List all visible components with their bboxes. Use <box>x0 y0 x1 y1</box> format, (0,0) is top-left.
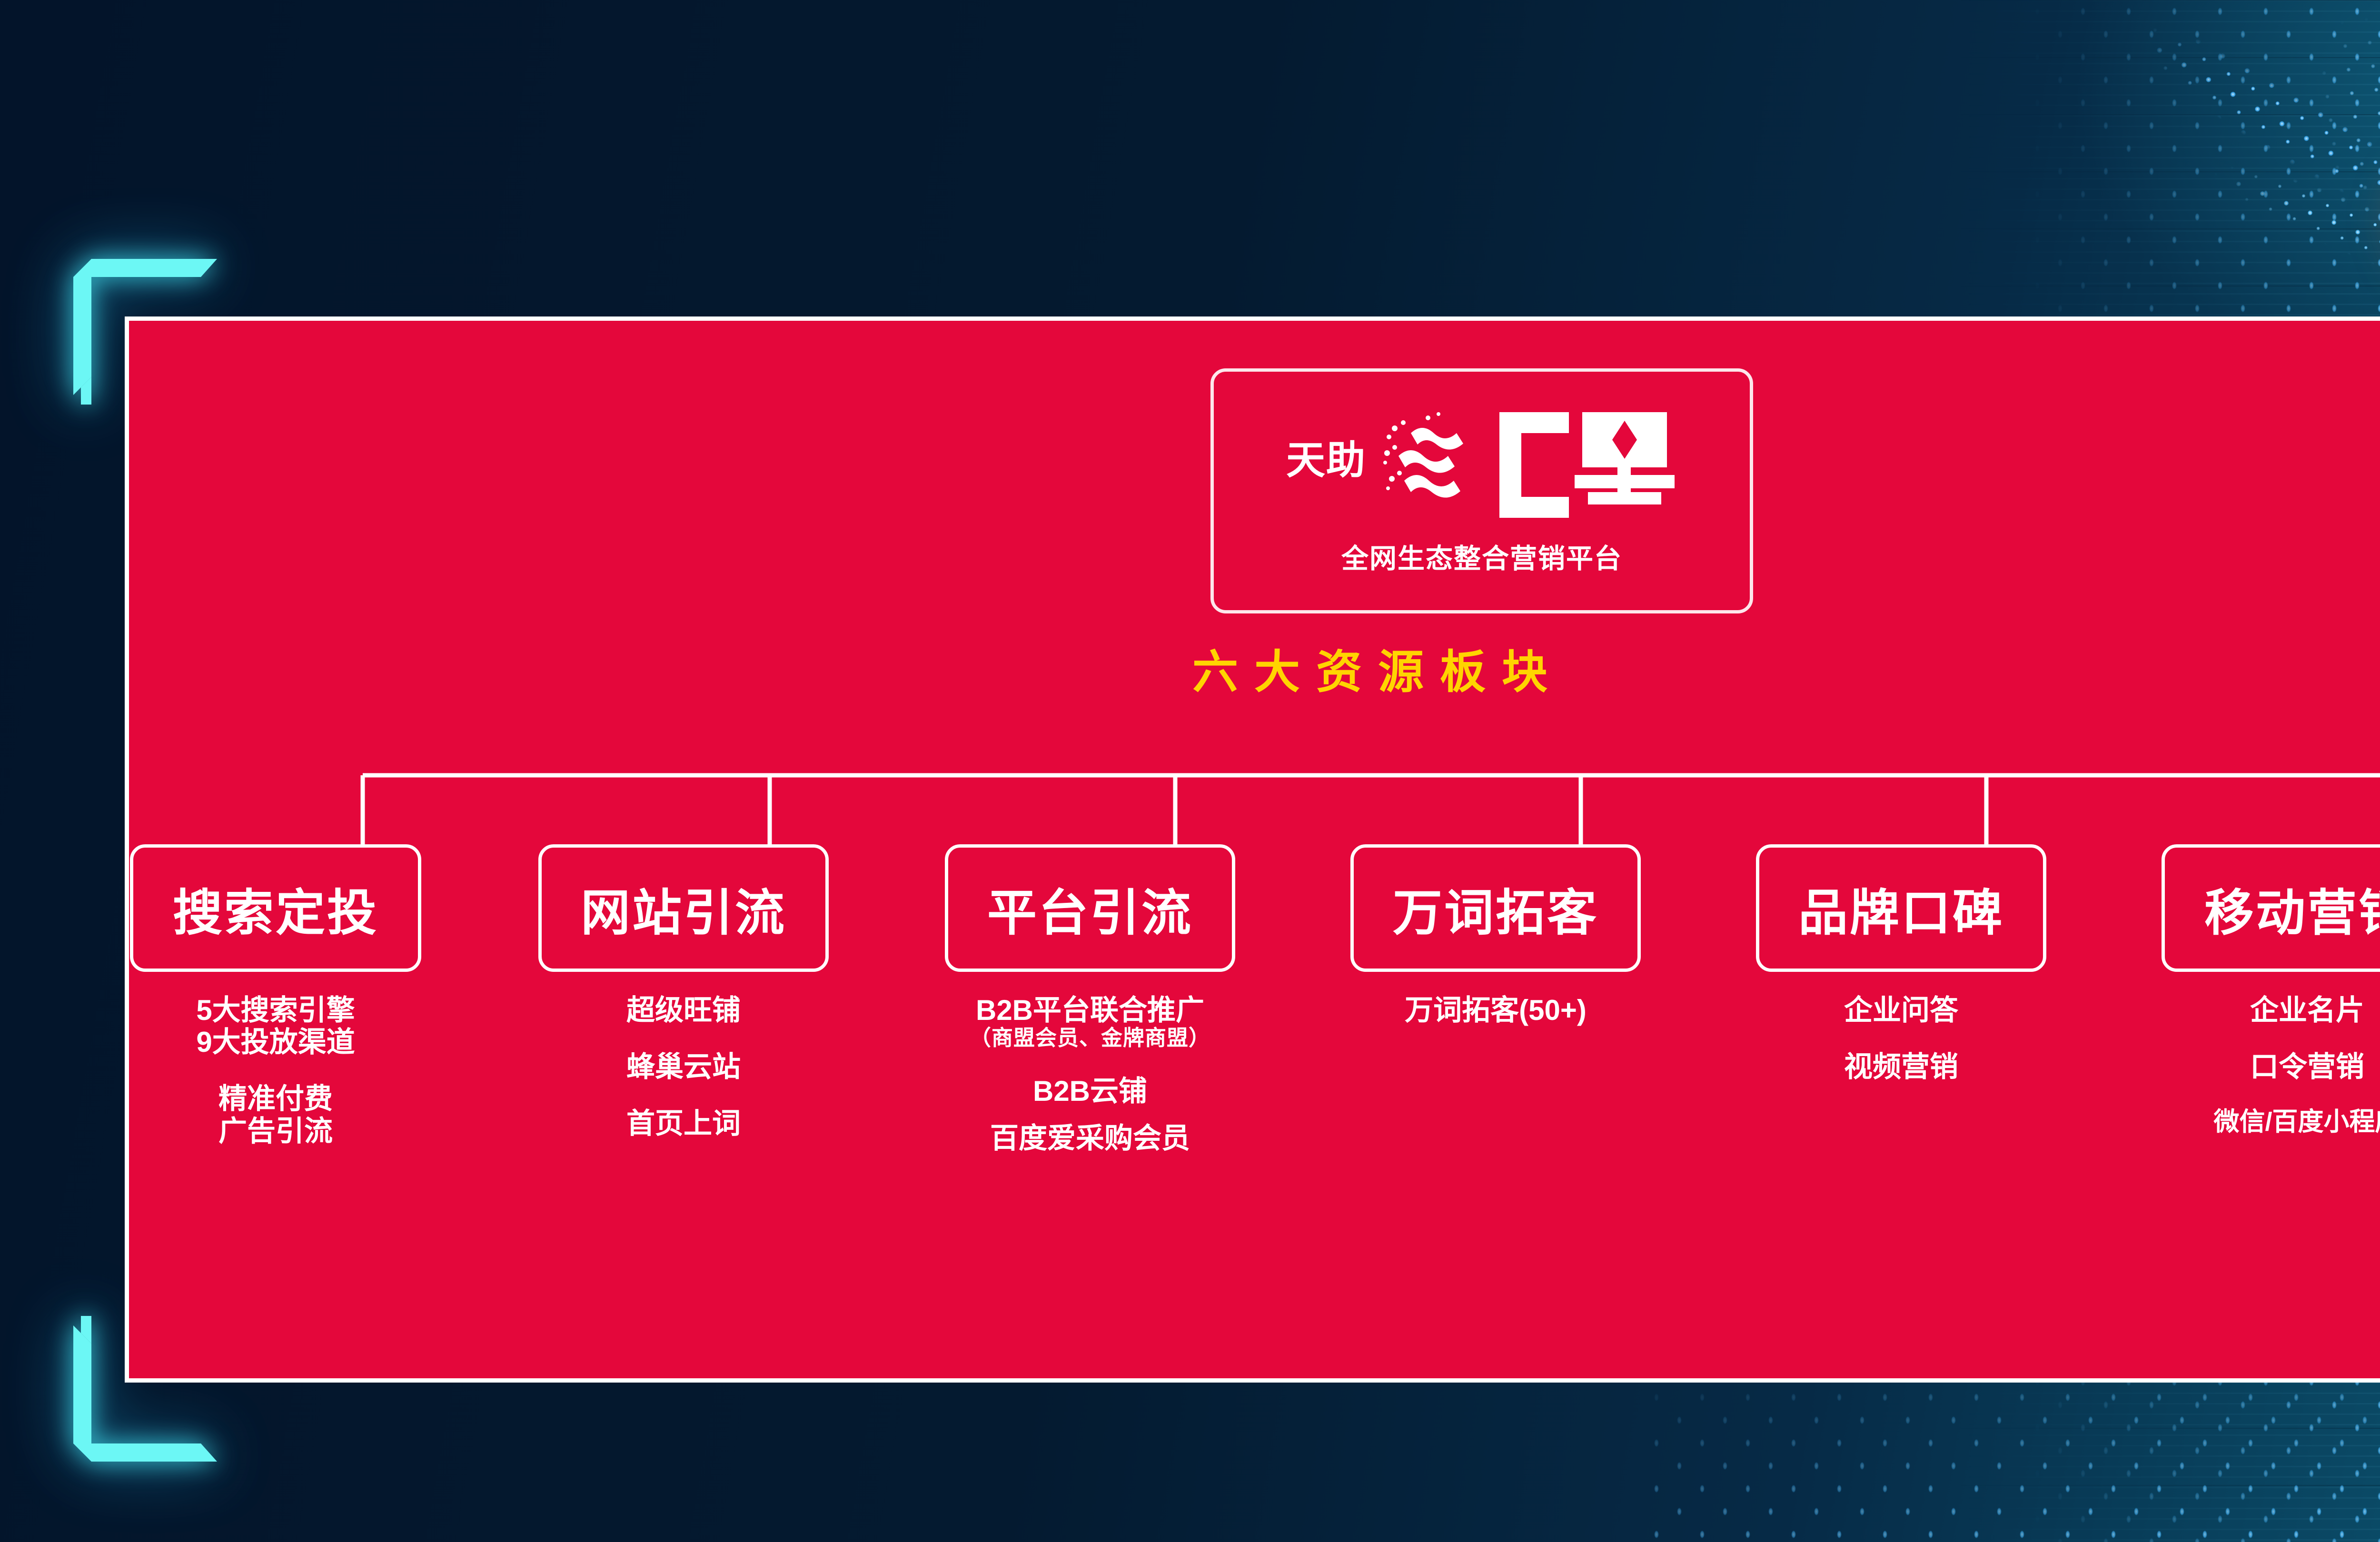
node-box-3[interactable]: 平台引流 <box>945 844 1235 972</box>
detail-line: 蜂巢云站 <box>538 1051 829 1083</box>
detail-line: 视频营销 <box>1756 1051 2046 1083</box>
detail-line: 万词拓客(50+) <box>1341 994 1650 1026</box>
detail-line: 企业问答 <box>1756 994 2046 1026</box>
node-label: 品牌口碑 <box>1798 872 2004 944</box>
node-label: 移动营销 <box>2204 872 2380 944</box>
node-label: 网站引流 <box>581 872 786 944</box>
detail-line: 超级旺铺 <box>538 994 829 1026</box>
poster-canvas: 天助网® www.tz1288.com 天助 <box>0 0 2380 1542</box>
detail-line: B2B云铺 <box>926 1075 1254 1107</box>
logo-row: 天助 <box>1286 404 1677 518</box>
logo-tagline: 全网生态整合营销平台 <box>1341 537 1622 576</box>
detail-line: 首页上词 <box>538 1107 829 1139</box>
detail-line: 口令营销 <box>2152 1051 2380 1083</box>
detail-line: 精准付费 <box>130 1083 421 1115</box>
logo-prefix: 天助 <box>1286 441 1366 480</box>
detail-columns: 5大搜索引擎 9大投放渠道 精准付费 广告引流 超级旺铺 蜂巢云站 首页上词 B… <box>129 994 2380 1375</box>
detail-line: 企业名片 <box>2152 994 2380 1026</box>
detail-line: （商盟会员、金牌商盟） <box>926 1026 1254 1050</box>
node-box-6[interactable]: 移动营销 <box>2162 844 2380 972</box>
detail-column-3: B2B平台联合推广 （商盟会员、金牌商盟） B2B云铺 百度爱采购会员 <box>926 994 1254 1154</box>
detail-line: B2B平台联合推广 <box>926 994 1254 1026</box>
brand-logo-plaque: 天助 <box>1210 368 1753 613</box>
node-label: 平台引流 <box>987 872 1193 944</box>
node-box-1[interactable]: 搜索定投 <box>130 844 421 972</box>
detail-line: 9大投放渠道 <box>130 1026 421 1058</box>
detail-column-2: 超级旺铺 蜂巢云站 首页上词 <box>538 994 829 1140</box>
node-box-5[interactable]: 品牌口碑 <box>1756 844 2046 972</box>
detail-line: 5大搜索引擎 <box>130 994 421 1026</box>
node-row: 搜索定投 网站引流 平台引流 万词拓客 品牌口碑 移动营销 <box>129 844 2380 978</box>
detail-line: 广告引流 <box>130 1115 421 1147</box>
particle-swirl-icon <box>2133 0 2380 290</box>
detail-column-1: 5大搜索引擎 9大投放渠道 精准付费 广告引流 <box>130 994 421 1147</box>
section-heading: 六大资源板块 <box>129 635 2380 701</box>
detail-line: 微信/百度小程序 <box>2152 1107 2380 1136</box>
red-content-panel: 天助 <box>125 316 2380 1383</box>
detail-line: 百度爱采购会员 <box>926 1122 1254 1154</box>
node-box-4[interactable]: 万词拓客 <box>1350 844 1641 972</box>
node-label: 万词拓客 <box>1393 872 1598 944</box>
node-box-2[interactable]: 网站引流 <box>538 844 829 972</box>
detail-column-6: 企业名片 口令营销 微信/百度小程序 <box>2152 994 2380 1137</box>
detail-column-4: 万词拓客(50+) <box>1341 994 1650 1026</box>
detail-column-5: 企业问答 视频营销 <box>1756 994 2046 1083</box>
node-label: 搜索定投 <box>173 872 378 944</box>
huixing-wordmark-icon <box>1382 404 1677 518</box>
